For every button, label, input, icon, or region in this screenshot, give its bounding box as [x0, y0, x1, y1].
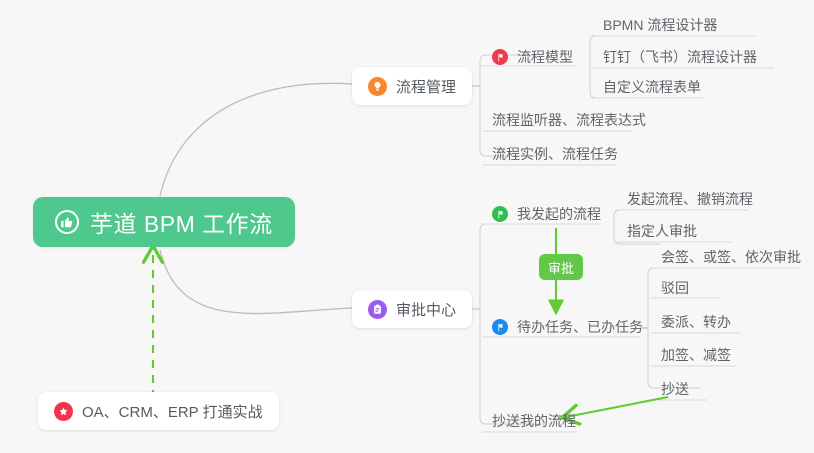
floating-node-oa-crm-erp[interactable]: OA、CRM、ERP 打通实战: [38, 392, 279, 430]
label-cc-to-me-processes: 抄送我的流程: [492, 411, 576, 431]
node-add-remove-sign[interactable]: 加签、减签: [659, 340, 733, 370]
mindmap-canvas: 芋道 BPM 工作流 流程管理 流程模型 BPMN 流程设计器 钉钉（飞书）流程…: [0, 0, 814, 453]
approval-tag-label: 审批: [548, 258, 574, 277]
label-delegate-transfer: 委派、转办: [661, 312, 731, 332]
label-assignee-approval: 指定人审批: [627, 221, 697, 241]
label-bpmn-designer: BPMN 流程设计器: [603, 15, 717, 35]
node-bpmn-designer[interactable]: BPMN 流程设计器: [601, 10, 719, 40]
label-my-started-processes: 我发起的流程: [517, 204, 601, 224]
lightbulb-icon: [368, 77, 387, 96]
thumbs-up-icon: [55, 210, 79, 234]
node-start-cancel-process[interactable]: 发起流程、撤销流程: [625, 184, 755, 214]
flag-red-icon: [492, 49, 508, 65]
flag-green-icon: [492, 206, 508, 222]
clipboard-icon: [368, 300, 387, 319]
label-carbon-copy: 抄送: [661, 379, 689, 399]
node-countersign-orsign-sequential[interactable]: 会签、或签、依次审批: [659, 242, 803, 272]
node-cc-to-me-processes[interactable]: 抄送我的流程: [490, 406, 578, 436]
node-carbon-copy[interactable]: 抄送: [659, 374, 691, 404]
branch-label-approval-center: 审批中心: [396, 299, 456, 320]
label-process-listener-expression: 流程监听器、流程表达式: [492, 110, 646, 130]
label-dingtalk-feishu-designer: 钉钉（飞书）流程设计器: [603, 47, 757, 67]
arrow-carbon-copy-to-cc-processes: [566, 397, 668, 417]
label-start-cancel-process: 发起流程、撤销流程: [627, 189, 753, 209]
node-reject[interactable]: 驳回: [659, 273, 691, 303]
node-delegate-transfer[interactable]: 委派、转办: [659, 307, 733, 337]
label-process-model: 流程模型: [517, 47, 573, 67]
root-label: 芋道 BPM 工作流: [90, 205, 273, 239]
label-custom-process-form: 自定义流程表单: [603, 77, 701, 97]
node-todo-done-tasks[interactable]: 待办任务、已办任务: [490, 312, 645, 342]
node-dingtalk-feishu-designer[interactable]: 钉钉（飞书）流程设计器: [601, 42, 759, 72]
branch-node-approval-center[interactable]: 审批中心: [352, 290, 472, 328]
node-custom-process-form[interactable]: 自定义流程表单: [601, 72, 703, 102]
node-process-model[interactable]: 流程模型: [490, 42, 575, 72]
branch-label-process-management: 流程管理: [396, 76, 456, 97]
label-todo-done-tasks: 待办任务、已办任务: [517, 317, 643, 337]
star-icon: [54, 402, 73, 421]
label-reject: 驳回: [661, 278, 689, 298]
node-my-started-processes[interactable]: 我发起的流程: [490, 199, 603, 229]
label-add-remove-sign: 加签、减签: [661, 345, 731, 365]
approval-tag[interactable]: 审批: [539, 254, 583, 280]
label-countersign-orsign-sequential: 会签、或签、依次审批: [661, 247, 801, 267]
edge-root-to-approval-center: [160, 250, 352, 314]
node-process-listener-expression[interactable]: 流程监听器、流程表达式: [490, 105, 648, 135]
branch-node-process-management[interactable]: 流程管理: [352, 67, 472, 105]
floating-node-label: OA、CRM、ERP 打通实战: [82, 401, 263, 422]
flag-blue-icon: [492, 319, 508, 335]
edge-root-to-process-management: [160, 83, 352, 196]
root-node[interactable]: 芋道 BPM 工作流: [33, 197, 295, 247]
node-process-instance-task[interactable]: 流程实例、流程任务: [490, 139, 620, 169]
label-process-instance-task: 流程实例、流程任务: [492, 144, 618, 164]
